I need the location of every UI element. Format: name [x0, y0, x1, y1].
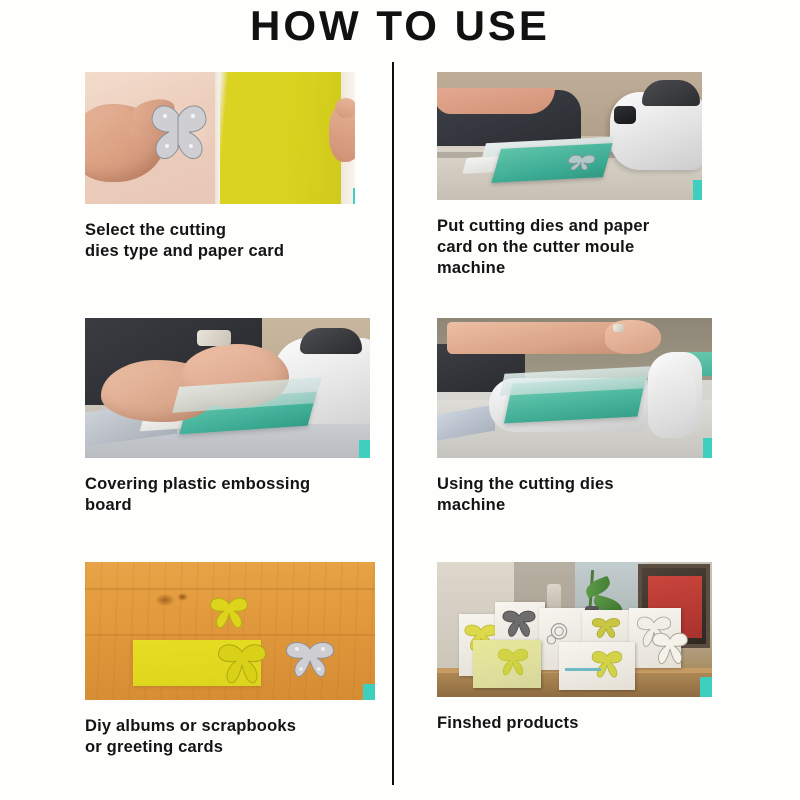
step-1-photo: 1 — [85, 72, 355, 204]
step-2-badge: 2 — [693, 180, 702, 200]
machine-knob — [614, 106, 636, 124]
step-4-caption: Using the cutting dies machine — [437, 474, 709, 516]
card-butterfly-icon — [588, 616, 624, 642]
step-6: 6 Finshed products — [437, 562, 712, 734]
step-6-photo: 6 — [437, 562, 712, 697]
yellow-butterfly-large-icon — [213, 642, 271, 684]
step-2-photo: 2 — [437, 72, 702, 200]
step-1-badge: 1 — [353, 188, 355, 204]
silver-butterfly-die-icon — [281, 640, 339, 678]
step-2: 2 Put cutting dies and paper card on the… — [437, 72, 709, 279]
page-title: HOW TO USE — [0, 2, 800, 50]
step-4-badge: 4 — [703, 438, 712, 458]
right-thumb-shape — [335, 98, 355, 118]
photo-paper-side — [215, 72, 355, 204]
wood-grain-line — [85, 634, 375, 636]
step-5: 5 Diy albums or scrapbooks or greeting c… — [85, 562, 375, 758]
infographic-page: HOW TO USE — [0, 0, 800, 800]
machine-crank-wheel — [648, 352, 702, 438]
finger-ring — [613, 324, 624, 332]
greeting-card-front — [559, 642, 635, 690]
step-1: 1 Select the cutting dies type and paper… — [85, 72, 365, 262]
wood-knot — [155, 594, 175, 606]
vertical-divider — [392, 62, 394, 785]
machine-handle — [642, 80, 700, 106]
step-5-caption: Diy albums or scrapbooks or greeting car… — [85, 716, 375, 758]
greeting-card-front — [473, 640, 541, 688]
step-6-caption: Finshed products — [437, 713, 709, 734]
butterfly-die-on-plate-icon — [561, 154, 602, 170]
photo-die-side — [85, 72, 215, 204]
machine-handle — [300, 328, 362, 354]
step-5-badge: 5 — [363, 684, 375, 700]
standing-butterfly-icon — [649, 630, 691, 668]
step-5-photo: 5 — [85, 562, 375, 700]
step-4-photo: 4 — [437, 318, 712, 458]
wristwatch — [197, 330, 231, 346]
person-skin — [437, 88, 555, 114]
card-yellow-overlay — [473, 640, 541, 688]
step-3-badge: 3 — [359, 440, 370, 458]
wood-grain-line — [85, 588, 375, 590]
butterfly-die-icon — [143, 102, 215, 164]
card-butterfly-icon — [499, 608, 539, 642]
wood-knot — [177, 593, 188, 601]
step-3-photo: 3 — [85, 318, 370, 458]
card-butterfly-icon — [585, 645, 629, 685]
yellow-butterfly-cutout-icon — [205, 596, 253, 628]
step-4: 4 Using the cutting dies machine — [437, 318, 712, 516]
person-torso — [437, 90, 581, 146]
step-3-caption: Covering plastic embossing board — [85, 474, 385, 516]
step-2-caption: Put cutting dies and paper card on the c… — [437, 216, 709, 279]
step-6-badge: 6 — [700, 677, 712, 697]
card-text-line — [565, 668, 601, 671]
step-1-caption: Select the cutting dies type and paper c… — [85, 220, 365, 262]
step-3: 3 Covering plastic embossing board — [85, 318, 385, 516]
